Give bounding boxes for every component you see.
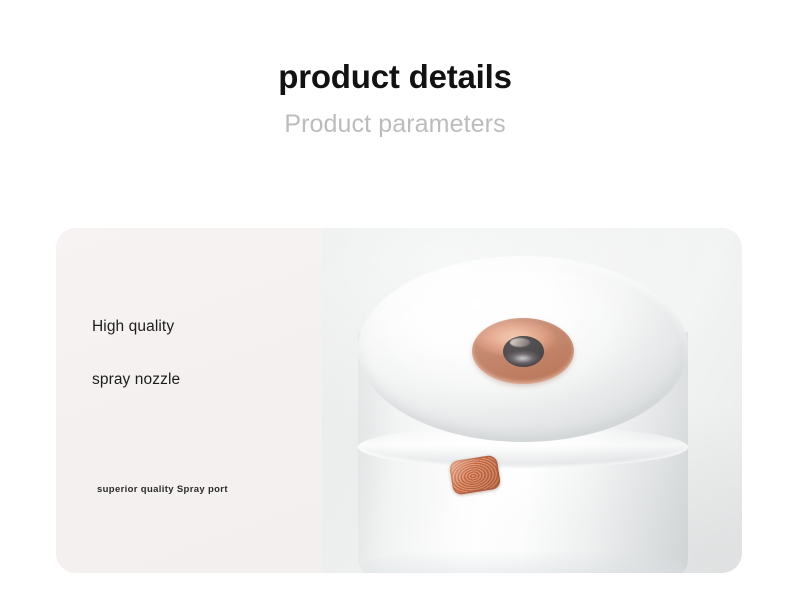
product-base-lip: [362, 550, 684, 573]
page-title: product details: [0, 0, 790, 96]
humidifier-product-image: [346, 256, 700, 573]
spray-nozzle-icon: [472, 318, 574, 384]
spec-text-panel: High quality spray nozzle superior quali…: [56, 228, 322, 573]
spray-nozzle-highlight: [510, 338, 530, 347]
spec-caption: superior quality Spray port: [97, 484, 228, 495]
product-photo-panel: [322, 228, 742, 573]
product-detail-card: High quality spray nozzle superior quali…: [56, 228, 742, 573]
spec-line-secondary: spray nozzle: [92, 371, 180, 389]
page-subtitle: Product parameters: [0, 96, 790, 139]
page-heading-block: product details Product parameters: [0, 0, 790, 139]
spec-line-primary: High quality: [92, 318, 174, 336]
